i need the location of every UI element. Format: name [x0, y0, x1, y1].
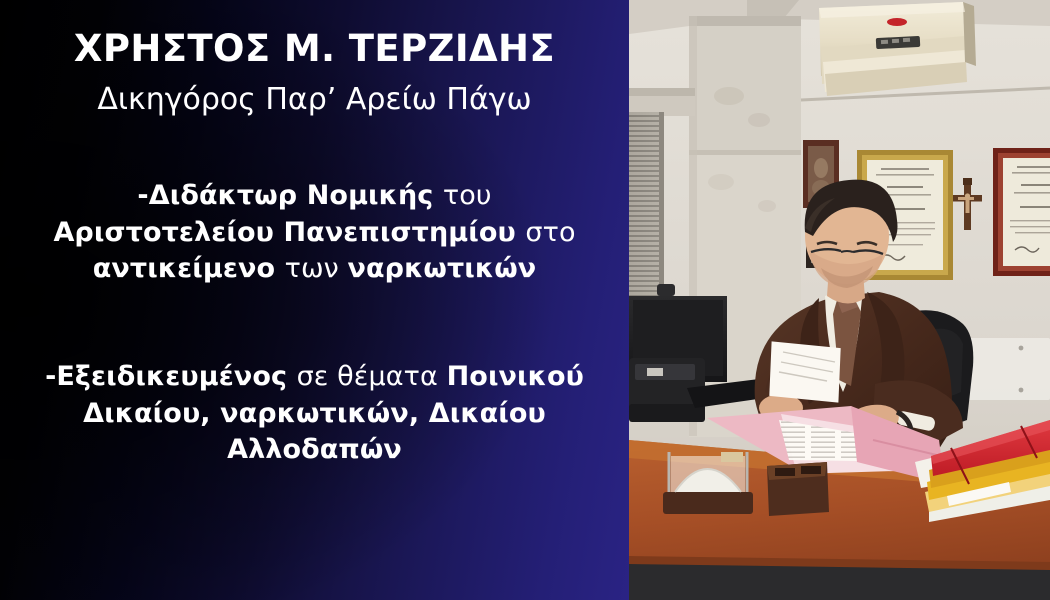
credential-segment: -Εξειδικευμένος	[45, 361, 297, 392]
credential-segment: -Διδάκτωρ Νομικής	[137, 180, 442, 211]
letter-holder	[663, 452, 753, 514]
credential-segment: των	[285, 253, 348, 284]
air-conditioner	[819, 2, 976, 96]
credential-item-2: -Εξειδικευμένος σε θέματα Ποινικού Δικαί…	[0, 359, 629, 469]
credential-segment: Αριστοτελείου Πανεπιστημίου	[53, 217, 525, 248]
credential-segment: σε θέματα	[297, 361, 447, 392]
page-title: ΧΡΗΣΤΟΣ Μ. ΤΕΡΖΙΔΗΣ	[56, 30, 573, 69]
credential-item-1: -Διδάκτωρ Νομικής του Αριστοτελείου Πανε…	[0, 178, 629, 288]
page-subtitle: Δικηγόρος Παρ’ Αρείω Πάγω	[79, 83, 549, 116]
banner-root: ΧΡΗΣΤΟΣ Μ. ΤΕΡΖΙΔΗΣ Δικηγόρος Παρ’ Αρείω…	[0, 0, 1050, 600]
pen-cup	[767, 462, 829, 516]
text-panel: ΧΡΗΣΤΟΣ Μ. ΤΕΡΖΙΔΗΣ Δικηγόρος Παρ’ Αρείω…	[0, 0, 629, 600]
credential-segment: στο	[525, 217, 575, 248]
framed-diploma-red	[993, 148, 1050, 276]
office-photo	[629, 0, 1050, 600]
text-stack: ΧΡΗΣΤΟΣ Μ. ΤΕΡΖΙΔΗΣ Δικηγόρος Παρ’ Αρείω…	[0, 0, 629, 600]
office-photo-illustration	[629, 0, 1050, 600]
credential-segment: ναρκωτικών	[348, 253, 537, 284]
credential-segment: αντικείμενο	[93, 253, 285, 284]
credential-segment: του	[443, 180, 492, 211]
